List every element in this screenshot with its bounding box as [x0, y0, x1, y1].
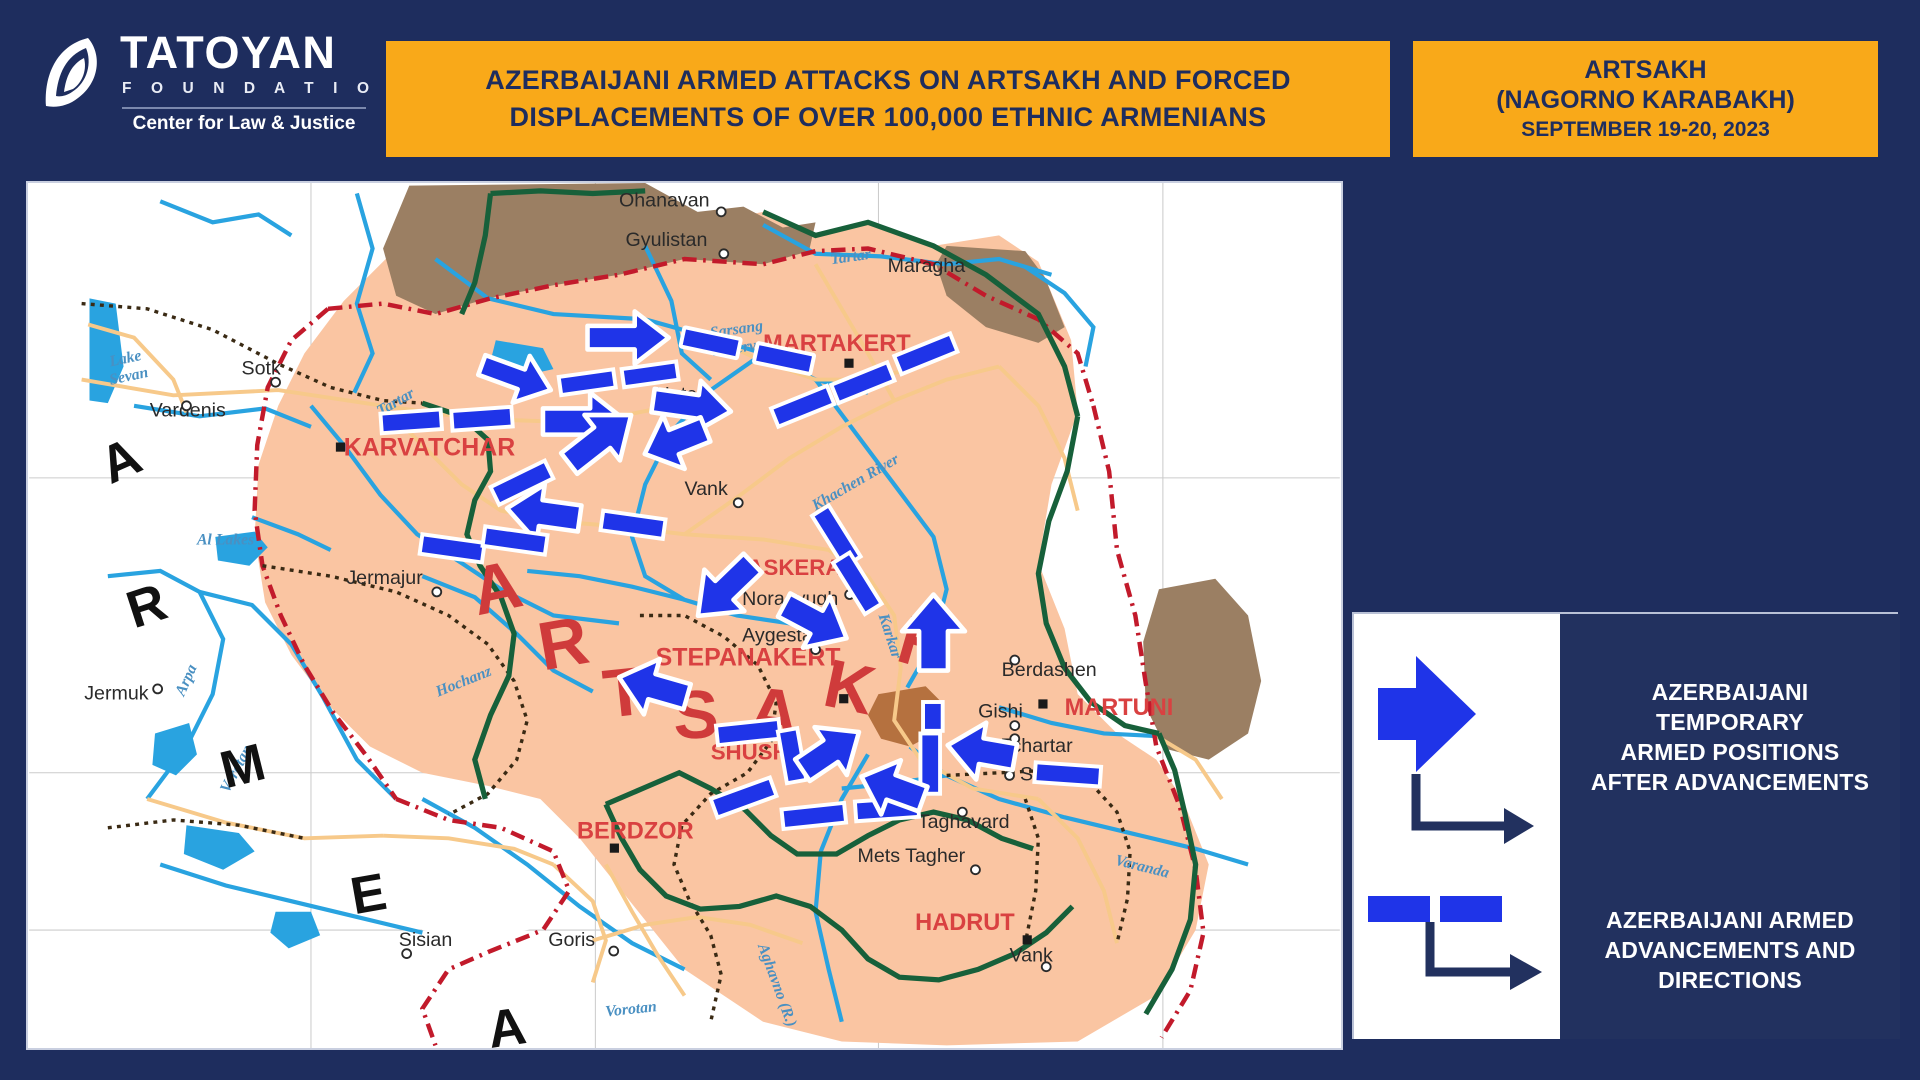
svg-text:Sisian: Sisian: [399, 929, 453, 951]
title-banner: AZERBAIJANI ARMED ATTACKS ON ARTSAKH AND…: [386, 41, 1390, 157]
svg-text:KARVATCHAR: KARVATCHAR: [344, 434, 515, 462]
legend-advancements-line-3: DIRECTIONS: [1604, 965, 1855, 995]
date-banner-line-3: SEPTEMBER 19-20, 2023: [1521, 115, 1770, 144]
legend-label-advancements: AZERBAIJANI ARMED ADVANCEMENTS AND DIREC…: [1560, 860, 1900, 1039]
logo-subtitle: F O U N D A T I O N: [120, 76, 370, 102]
legend-positions-line-3: ARMED POSITIONS: [1591, 737, 1869, 767]
svg-text:Al Lakes: Al Lakes: [196, 532, 254, 549]
blue-dashes-icon: [1354, 860, 1560, 1039]
legend-positions-line-1: AZERBAIJANI: [1591, 677, 1869, 707]
date-banner: ARTSAKH (NAGORNO KARABAKH) SEPTEMBER 19-…: [1413, 41, 1878, 157]
legend-advancements-line-2: ADVANCEMENTS AND: [1604, 935, 1855, 965]
logo-title: TATOYAN: [120, 30, 370, 76]
svg-text:HADRUT: HADRUT: [915, 909, 1015, 935]
svg-text:Gishi: Gishi: [978, 701, 1023, 723]
tatoyan-foundation-logo: TATOYAN F O U N D A T I O N Center for L…: [42, 30, 372, 158]
date-banner-line-1: ARTSAKH: [1584, 55, 1706, 85]
blue-arrow-block-icon: [1354, 614, 1560, 860]
svg-text:Mets Tagher: Mets Tagher: [858, 845, 966, 867]
svg-text:Ohanavan: Ohanavan: [619, 190, 710, 212]
legend-item-advancements: AZERBAIJANI ARMED ADVANCEMENTS AND DIREC…: [1354, 860, 1900, 1039]
title-line-2: DISPLACEMENTS OF OVER 100,000 ETHNIC ARM…: [485, 99, 1291, 136]
svg-text:MARTUNI: MARTUNI: [1065, 694, 1174, 720]
artsakh-map[interactable]: KARVATCHAR ASKERAN STEPANAKERT SHUSHI BE…: [28, 183, 1341, 1048]
date-banner-line-2: (NAGORNO KARABAKH): [1496, 85, 1795, 115]
legend-item-positions: AZERBAIJANI TEMPORARY ARMED POSITIONS AF…: [1354, 614, 1900, 860]
svg-text:Jermuk: Jermuk: [84, 682, 149, 704]
svg-text:Goris: Goris: [548, 929, 595, 951]
svg-text:Gyulistan: Gyulistan: [626, 229, 708, 251]
header-bar: TATOYAN F O U N D A T I O N Center for L…: [0, 0, 1920, 172]
legend-box: AZERBAIJANI TEMPORARY ARMED POSITIONS AF…: [1352, 612, 1898, 1039]
legend-positions-line-4: AFTER ADVANCEMENTS: [1591, 767, 1869, 797]
svg-text:Maragha: Maragha: [888, 255, 966, 277]
svg-text:BERDZOR: BERDZOR: [577, 817, 694, 843]
leaf-logo-icon: [42, 36, 104, 110]
svg-text:Vank: Vank: [684, 478, 727, 500]
infographic-root: TATOYAN F O U N D A T I O N Center for L…: [0, 0, 1920, 1080]
title-line-1: AZERBAIJANI ARMED ATTACKS ON ARTSAKH AND…: [485, 62, 1291, 99]
svg-text:A: A: [484, 997, 530, 1048]
logo-tagline: Center for Law & Justice: [120, 109, 368, 139]
legend-positions-line-2: TEMPORARY: [1591, 707, 1869, 737]
map-panel[interactable]: KARVATCHAR ASKERAN STEPANAKERT SHUSHI BE…: [26, 181, 1343, 1050]
legend-label-positions: AZERBAIJANI TEMPORARY ARMED POSITIONS AF…: [1560, 614, 1900, 860]
svg-text:Sotk: Sotk: [242, 357, 281, 379]
legend-advancements-line-1: AZERBAIJANI ARMED: [1604, 905, 1855, 935]
svg-text:Jermajur: Jermajur: [346, 567, 423, 589]
